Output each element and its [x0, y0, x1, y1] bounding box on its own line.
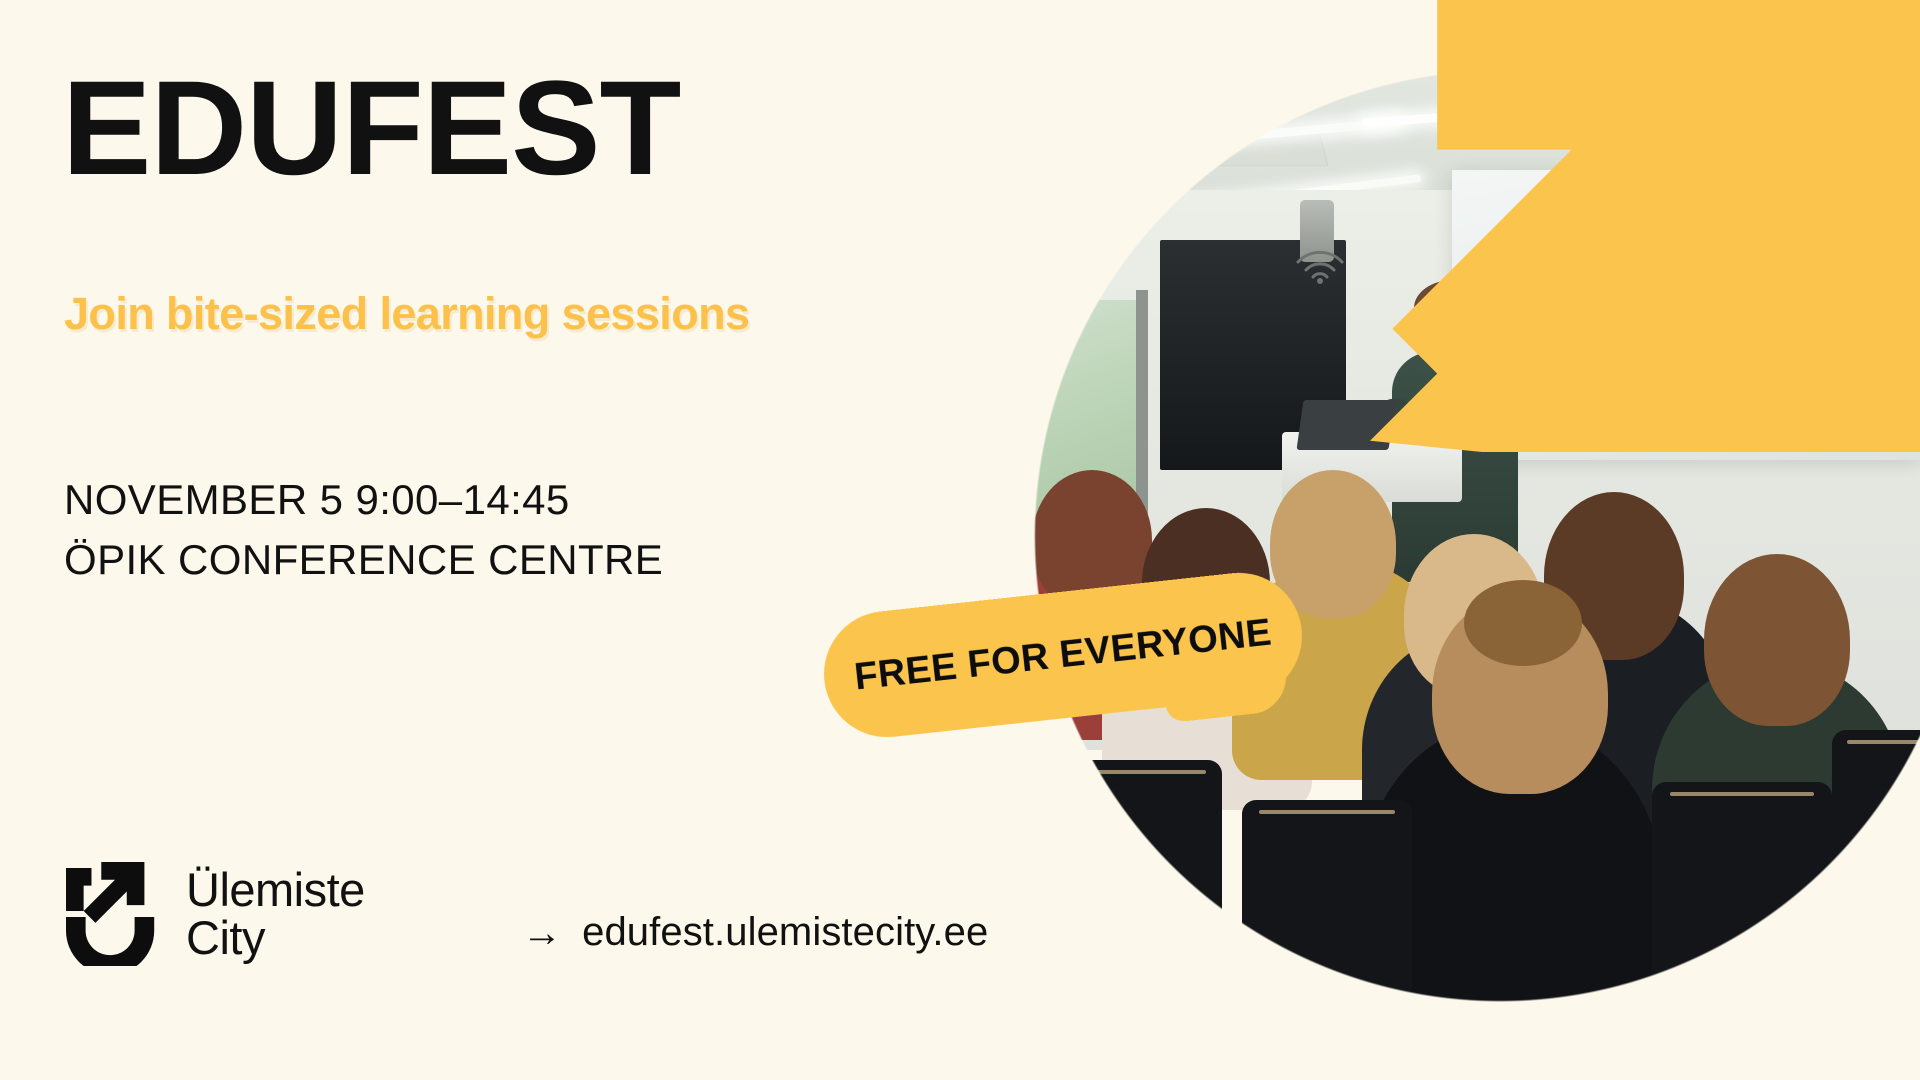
subtitle: Join bite-sized learning sessions — [64, 288, 749, 340]
website-url[interactable]: → edufest.ulemistecity.ee — [522, 910, 988, 955]
diagonal-arrow-up-right-icon — [1370, 0, 1920, 452]
ulemiste-city-arrow-mark-icon — [66, 862, 164, 966]
chair — [1832, 730, 1920, 980]
page-title: EDUFEST — [62, 62, 680, 196]
audience — [1032, 430, 1920, 1080]
event-date: NOVEMBER 5 9:00–14:45 — [64, 470, 663, 530]
wifi-icon — [1294, 250, 1346, 284]
attendee-hair-bun — [1464, 580, 1582, 666]
event-details: NOVEMBER 5 9:00–14:45 ÖPIK CONFERENCE CE… — [64, 470, 663, 589]
projector-lens — [1260, 62, 1294, 92]
logo-wordmark: Ülemiste City — [186, 866, 365, 963]
logo-line-1: Ülemiste — [186, 866, 365, 914]
logo-line-2: City — [186, 914, 365, 962]
chair — [1652, 782, 1832, 1037]
arrow-right-icon: → — [522, 913, 562, 953]
ulemiste-city-logo: Ülemiste City — [66, 862, 365, 966]
attendee-head — [1704, 554, 1850, 726]
chair — [1242, 800, 1412, 1050]
url-text: edufest.ulemistecity.ee — [582, 910, 988, 955]
edufest-promo-banner: Citius — [0, 0, 1920, 1080]
event-venue: ÖPIK CONFERENCE CENTRE — [64, 530, 663, 590]
chair — [1062, 760, 1222, 1000]
